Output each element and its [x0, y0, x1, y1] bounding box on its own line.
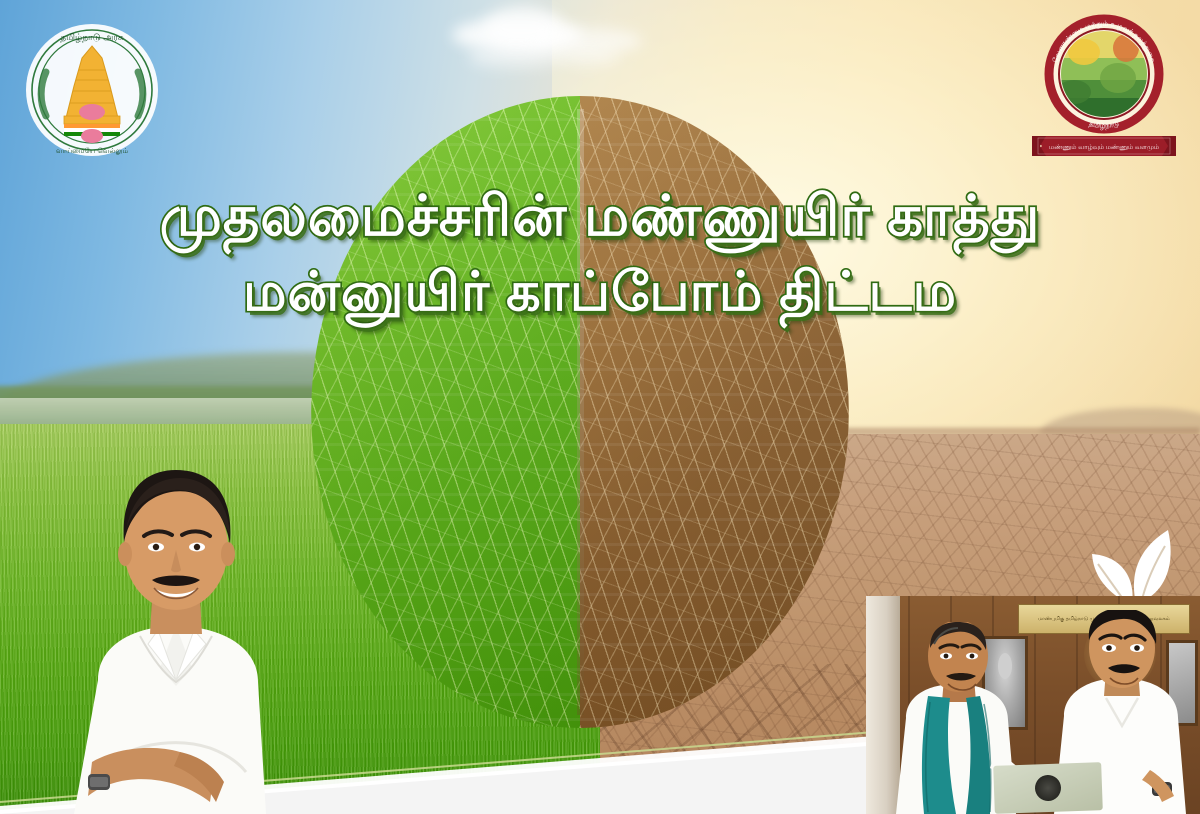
- title-line-2: மன்னுயிர் காப்போம் திட்டம: [0, 254, 1200, 330]
- banner-title: முதலமைச்சரின் மண்ணுயிர் காத்து மன்னுயிர்…: [0, 178, 1200, 330]
- scheme-banner: தமிழ்நாடு அரசு வாய்மையே வெல்லும்: [0, 0, 1200, 814]
- plaque-seal: [1035, 775, 1062, 802]
- chief-minister-portrait: [40, 430, 312, 814]
- emblem-motto-text: வாய்மையே வெல்லும்: [56, 147, 129, 155]
- agri-logo-ribbon-text: மண்ணும் வாழ்வும் மண்ணும் வளமும்: [1049, 144, 1159, 151]
- tamil-nadu-emblem-icon: தமிழ்நாடு அரசு வாய்மையே வெல்லும்: [22, 20, 162, 160]
- agriculture-logo-icon: வேளாண்மை மற்றும் உழவர் நலத்துறை தமிழ்நாட…: [1022, 12, 1186, 162]
- emblem-top-text: தமிழ்நாடு அரசு: [60, 32, 124, 42]
- handover-ceremony-photo: மாண்புமிகு தமிழ்நாடு முதலமைச்சர் அவர்கள்…: [866, 596, 1200, 814]
- title-line-1: முதலமைச்சரின் மண்ணுயிர் காத்து: [0, 178, 1200, 254]
- commemorative-plaque: [993, 762, 1103, 814]
